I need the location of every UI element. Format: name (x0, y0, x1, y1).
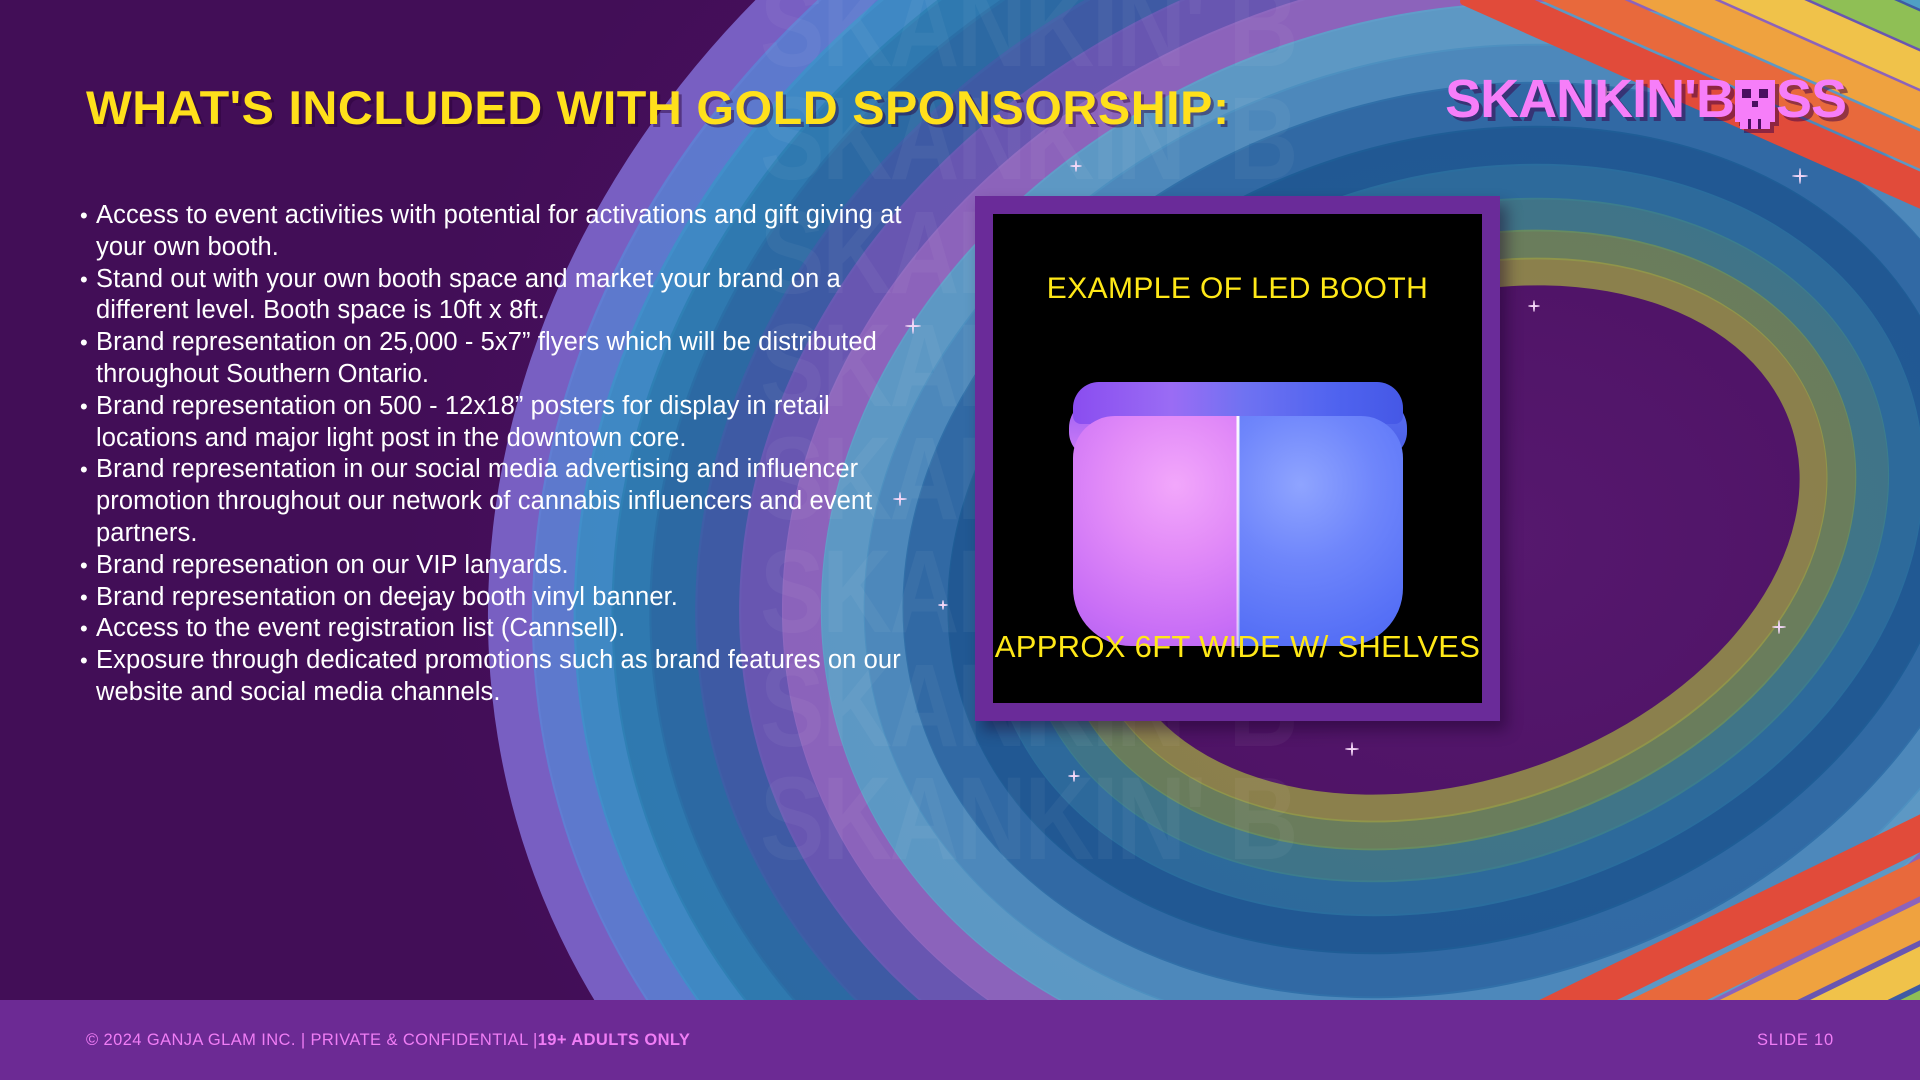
bullet-marker-icon: • (80, 582, 96, 614)
page-title: WHAT'S INCLUDED WITH GOLD SPONSORSHIP: (86, 84, 1230, 131)
list-item-text: Brand representation on 25,000 - 5x7” fl… (96, 327, 910, 391)
bullet-marker-icon: • (80, 454, 96, 486)
list-item-text: Stand out with your own booth space and … (96, 264, 910, 328)
list-item: •Brand representation in our social medi… (80, 454, 910, 549)
bullet-marker-icon: • (80, 613, 96, 645)
list-item-text: Exposure through dedicated promotions su… (96, 645, 910, 709)
footer-copyright: © 2024 GANJA GLAM INC. | PRIVATE & CONFI… (86, 1031, 690, 1050)
footer-copyright-text: © 2024 GANJA GLAM INC. | PRIVATE & CONFI… (86, 1031, 538, 1050)
list-item: •Brand representation on deejay booth vi… (80, 582, 910, 614)
list-item: •Exposure through dedicated promotions s… (80, 645, 910, 709)
bullet-marker-icon: • (80, 550, 96, 582)
led-booth-card-title: EXAMPLE OF LED BOOTH (993, 272, 1482, 306)
led-booth-card: EXAMPLE OF LED BOOTH APPROX 6FT WIDE W/ … (975, 196, 1500, 721)
logo-text-first: SKANKIN'B (1445, 72, 1734, 126)
slide-canvas: SKANKIN' BSKANKIN' BSKANKIN' BSKANKIN' B… (0, 0, 1920, 1080)
list-item: •Brand representation on 500 - 12x18” po… (80, 391, 910, 455)
footer-slide-number: SLIDE 10 (1757, 1031, 1834, 1050)
list-item-text: Access to event activities with potentia… (96, 200, 910, 264)
bullet-marker-icon: • (80, 200, 96, 232)
skull-icon (1735, 80, 1775, 122)
footer-age-notice: 19+ ADULTS ONLY (538, 1031, 691, 1050)
list-item-text: Brand representation on deejay booth vin… (96, 582, 910, 614)
list-item-text: Access to the event registration list (C… (96, 613, 910, 645)
bullet-marker-icon: • (80, 327, 96, 359)
logo-text-second: SS (1776, 72, 1846, 126)
brand-logo: SKANKIN'B SS (1445, 72, 1846, 126)
list-item-text: Brand representation on 500 - 12x18” pos… (96, 391, 910, 455)
list-item: •Access to event activities with potenti… (80, 200, 910, 264)
bullet-marker-icon: • (80, 645, 96, 677)
list-item-text: Brand representation in our social media… (96, 454, 910, 549)
list-item: •Access to the event registration list (… (80, 613, 910, 645)
bullet-marker-icon: • (80, 264, 96, 296)
led-booth-card-caption: APPROX 6FT WIDE W/ SHELVES (993, 629, 1482, 665)
led-booth-card-inner: EXAMPLE OF LED BOOTH APPROX 6FT WIDE W/ … (993, 214, 1482, 703)
list-item-text: Brand represenation on our VIP lanyards. (96, 550, 910, 582)
led-booth-illustration (1073, 382, 1403, 652)
footer-bar: © 2024 GANJA GLAM INC. | PRIVATE & CONFI… (0, 1000, 1920, 1080)
list-item: •Brand representation on 25,000 - 5x7” f… (80, 327, 910, 391)
list-item: •Brand represenation on our VIP lanyards… (80, 550, 910, 582)
benefits-list: •Access to event activities with potenti… (80, 200, 910, 709)
list-item: •Stand out with your own booth space and… (80, 264, 910, 328)
bullet-marker-icon: • (80, 391, 96, 423)
